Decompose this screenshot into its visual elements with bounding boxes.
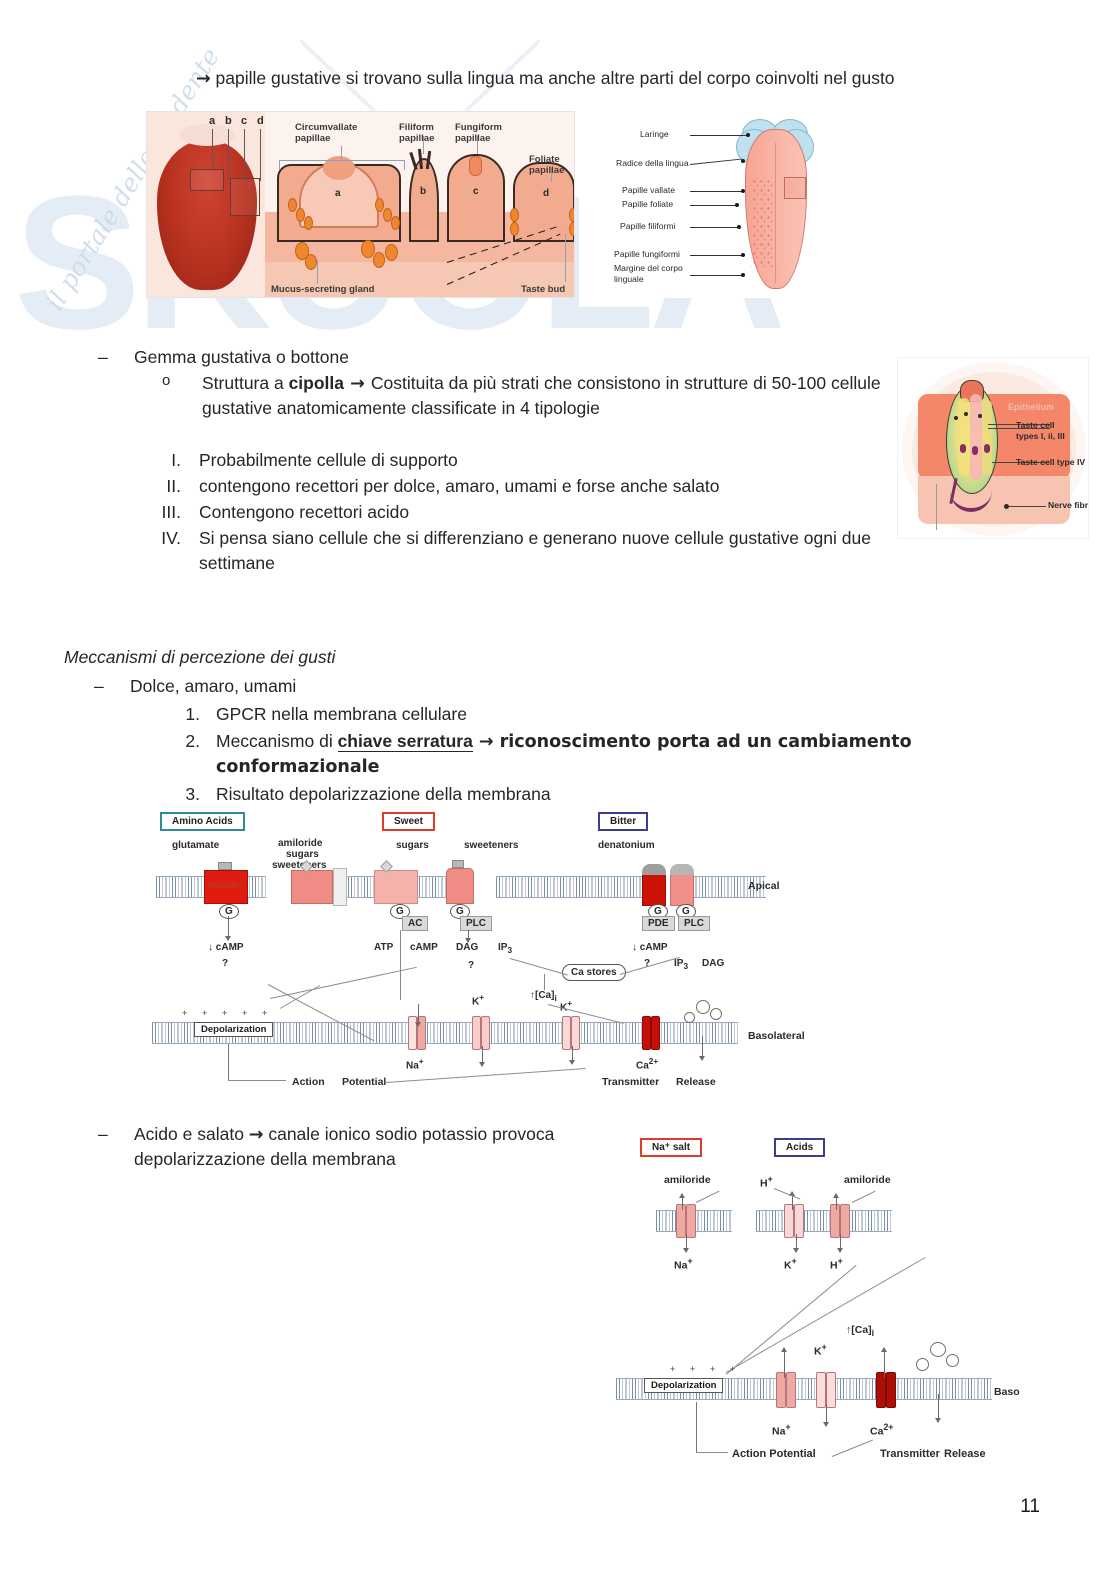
circle-bullet: o: [162, 371, 202, 420]
label-sweeteners-2: sweeteners: [464, 840, 518, 851]
label-mglur4: mGluR4: [208, 880, 243, 890]
enzyme-pde: PDE: [642, 916, 675, 931]
list-item-text: contengono recettori per dolce, amaro, u…: [199, 474, 897, 498]
list-item-text: Meccanismo di chiave serratura → riconos…: [216, 729, 1050, 779]
tongue-letter-b: b: [225, 115, 232, 127]
list-item-text: Probabilmente cellule di supporto: [199, 448, 897, 472]
label-depolarization-salt: Depolarization: [644, 1378, 723, 1393]
label-release: Release: [676, 1076, 716, 1088]
arrow-glyph: →: [196, 69, 211, 89]
label-epithelium: Epithelium: [1008, 402, 1054, 412]
label-margine-corpo-linguale: Margine del corpolinguale: [614, 263, 683, 284]
label-camp-amino: ↓ cAMP: [208, 942, 244, 953]
gemma-heading: Gemma gustativa o bottone: [134, 345, 898, 369]
label-ca-concentration-salt: ↑[Ca]i: [846, 1324, 874, 1338]
label-papille-foliate: Papille foliate: [622, 199, 673, 209]
label-k-plus-acid: K+: [784, 1256, 797, 1272]
label-taste-bud: Taste bud: [521, 284, 565, 295]
label-basolateral-salt: Basolateral: [994, 1386, 1020, 1398]
label-k-plus-2: K+: [560, 998, 572, 1013]
label-h-plus-acid: H+: [830, 1256, 843, 1272]
label-na-plus-basolateral: Na+: [772, 1422, 791, 1438]
dash-bullet: –: [98, 345, 134, 369]
label-action: Action: [292, 1076, 325, 1088]
label-ca-stores: Ca stores: [562, 964, 626, 981]
list-item-number: 2.: [170, 729, 216, 779]
label-filiform: Filiformpapillae: [399, 122, 434, 144]
dash-bullet: –: [94, 674, 130, 698]
list-item: 3. Risultato depolarizzazione della memb…: [170, 782, 1050, 806]
papilla-letter-d: d: [543, 188, 549, 199]
label-question-dag: ?: [468, 960, 474, 971]
list-item-number: III.: [137, 500, 199, 524]
tag-acids: Acids: [774, 1138, 825, 1157]
label-ca-concentration: ↑[Ca]i: [530, 990, 557, 1003]
label-laringe: Laringe: [640, 129, 669, 139]
tag-bitter: Bitter: [598, 812, 648, 831]
label-amiloride-salt: amiloride: [664, 1174, 711, 1186]
list-item: II. contengono recettori per dolce, amar…: [137, 474, 897, 498]
label-basolateral: Basolateral: [748, 1030, 805, 1042]
label-apical: Apical: [748, 880, 780, 892]
list-item: 1. GPCR nella membrana cellulare: [170, 702, 1050, 726]
list-item: IV. Si pensa siano cellule che si differ…: [137, 526, 897, 574]
tag-sweet: Sweet: [382, 812, 435, 831]
label-denatonium: denatonium: [598, 840, 655, 851]
label-camp-sweet: cAMP: [410, 942, 438, 953]
keyword-cipolla: cipolla: [289, 373, 344, 393]
label-taste-cell-types-1-2-3: Taste celltypes I, ii, III: [1016, 420, 1065, 442]
dash-bullet: –: [98, 1122, 134, 1171]
label-sugars-2: sugars: [396, 840, 429, 851]
figure-taste-bud: Epithelium Taste celltypes I, ii, III Ta…: [897, 357, 1089, 539]
document-page: → papille gustative si trovano sulla lin…: [0, 0, 1116, 1579]
label-atp: ATP: [374, 942, 393, 953]
enzyme-plc-sweet: PLC: [460, 916, 492, 931]
label-transmitter-salt: Transmitter: [880, 1448, 940, 1460]
label-dag-bitter: DAG: [702, 958, 724, 969]
acido-text: Acido e salato → canale ionico sodio pot…: [134, 1122, 618, 1171]
label-depolarization: Depolarization: [194, 1022, 273, 1037]
list-item: 2. Meccanismo di chiave serratura → rico…: [170, 729, 1050, 779]
tag-amino-acids: Amino Acids: [160, 812, 245, 831]
label-k-plus-1: K+: [472, 992, 484, 1007]
lead-text: papille gustative si trovano sulla lingu…: [211, 68, 895, 88]
label-foliate: Foliatepapillae: [529, 154, 564, 176]
label-camp-bitter: ↓ cAMP: [632, 942, 668, 953]
mechanisms-subsection: – Dolce, amaro, umami: [94, 674, 994, 698]
label-release-salt: Release: [944, 1448, 986, 1460]
label-papille-vallate: Papille vallate: [622, 185, 675, 195]
list-item-number: 3.: [170, 782, 216, 806]
label-h-plus-top: H+: [760, 1174, 773, 1190]
roman-numeral-list: I. Probabilmente cellule di supporto II.…: [137, 448, 897, 577]
figure-salt-acid-transduction: Na⁺ salt Acids amiloride H+ amiloride Na…: [608, 1126, 1020, 1478]
tongue-letter-c: c: [241, 115, 247, 127]
label-transmitter: Transmitter: [602, 1076, 659, 1088]
list-item-text: Contengono recettori acido: [199, 500, 897, 524]
mechanisms-title: Meccanismi di percezione dei gusti: [64, 645, 335, 669]
section-acido-salato: – Acido e salato → canale ionico sodio p…: [98, 1122, 618, 1171]
label-fungiform: Fungiformpapillae: [455, 122, 502, 144]
list-item-text: Risultato depolarizzazione della membran…: [216, 782, 1050, 806]
label-na-plus-salt: Na+: [674, 1256, 693, 1272]
list-item: III. Contengono recettori acido: [137, 500, 897, 524]
label-mucus-gland: Mucus-secreting gland: [271, 284, 374, 295]
tongue-letter-d: d: [257, 115, 264, 127]
label-sugars-1: sugars: [286, 849, 319, 860]
label-ca-2plus-basolateral: Ca2+: [870, 1422, 893, 1438]
list-item-number: 1.: [170, 702, 216, 726]
label-potential: Potential: [342, 1076, 386, 1088]
label-ip3-bitter: IP3: [674, 958, 688, 971]
enzyme-plc-bitter: PLC: [678, 916, 710, 931]
label-radice-lingua: Radice della lingua: [616, 158, 689, 168]
label-ca-2plus: Ca2+: [636, 1056, 658, 1071]
list-item-number: IV.: [137, 526, 199, 574]
label-question-amino: ?: [222, 958, 228, 969]
label-na-plus: Na+: [406, 1056, 424, 1071]
list-item-text: Si pensa siano cellule che si differenzi…: [199, 526, 897, 574]
figure-tongue-papillae: a b c d a b c d: [146, 111, 575, 298]
label-circumvallate: Circumvallatepapillae: [295, 122, 357, 144]
mechanisms-subtitle: Dolce, amaro, umami: [130, 674, 994, 698]
page-number: 11: [1020, 1496, 1040, 1518]
keyword-chiave-serratura: chiave serratura: [338, 731, 473, 752]
figure-tongue-italian: Laringe Radice della lingua Papille vall…: [612, 113, 860, 298]
label-amiloride: amiloride: [278, 838, 322, 849]
figure-taste-transduction: Amino Acids Sweet Bitter glutamate amilo…: [150, 808, 810, 1098]
label-action-potential-salt: Action Potential: [732, 1448, 816, 1460]
list-item-text: GPCR nella membrana cellulare: [216, 702, 1050, 726]
tag-na-salt: Na⁺ salt: [640, 1138, 702, 1157]
section-gemma-gustativa: – Gemma gustativa o bottone o Struttura …: [98, 345, 898, 420]
list-item-number: I.: [137, 448, 199, 472]
papilla-letter-b: b: [420, 186, 426, 197]
label-papille-fungiformi: Papille fungiformi: [614, 249, 680, 259]
gemma-description: Struttura a cipolla → Costituita da più …: [202, 371, 898, 420]
label-glutamate: glutamate: [172, 840, 219, 851]
list-item-number: II.: [137, 474, 199, 498]
tongue-letter-a: a: [209, 115, 215, 127]
list-item: I. Probabilmente cellule di supporto: [137, 448, 897, 472]
papilla-letter-a: a: [335, 188, 341, 199]
label-papille-filiformi: Papille filiformi: [620, 221, 675, 231]
lead-paragraph: → papille gustative si trovano sulla lin…: [196, 66, 996, 91]
label-nerve-fibres: Nerve fibres: [1048, 500, 1089, 510]
papilla-letter-c: c: [473, 186, 479, 197]
label-taste-cell-type-4: Taste cell type IV: [1016, 457, 1085, 467]
label-amiloride-acid: amiloride: [844, 1174, 891, 1186]
label-ip3-sweet: IP3: [498, 942, 512, 955]
label-k-plus-basolateral: K+: [814, 1342, 827, 1358]
label-dag-sweet: DAG: [456, 942, 478, 953]
enzyme-ac: AC: [402, 916, 428, 931]
